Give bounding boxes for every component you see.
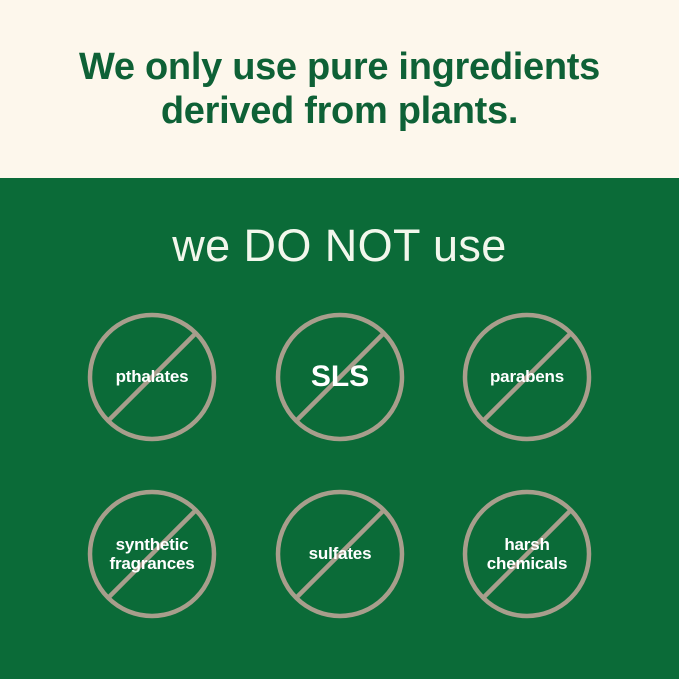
badge-label: sulfates: [273, 487, 407, 621]
prohibited-badge-parabens: parabens: [460, 310, 594, 444]
panel-title: we DO NOT use: [0, 223, 679, 268]
ingredient-promise-infographic: We only use pure ingredients derived fro…: [0, 0, 679, 679]
banner-headline: We only use pure ingredients derived fro…: [30, 45, 650, 133]
do-not-use-panel: we DO NOT use pthalates SLS: [0, 178, 679, 679]
prohibited-badge-synthetic-fragrances: synthetic fragrances: [85, 487, 219, 621]
prohibited-badge-harsh-chemicals: harsh chemicals: [460, 487, 594, 621]
banner: We only use pure ingredients derived fro…: [0, 0, 679, 178]
badge-label: synthetic fragrances: [85, 487, 219, 621]
prohibited-badge-sls: SLS: [273, 310, 407, 444]
badge-label: SLS: [273, 310, 407, 444]
prohibited-badge-sulfates: sulfates: [273, 487, 407, 621]
badge-label: harsh chemicals: [460, 487, 594, 621]
prohibited-ingredients-grid: pthalates SLS parabens: [85, 310, 595, 622]
prohibited-badge-pthalates: pthalates: [85, 310, 219, 444]
badge-label: pthalates: [85, 310, 219, 444]
badge-label: parabens: [460, 310, 594, 444]
